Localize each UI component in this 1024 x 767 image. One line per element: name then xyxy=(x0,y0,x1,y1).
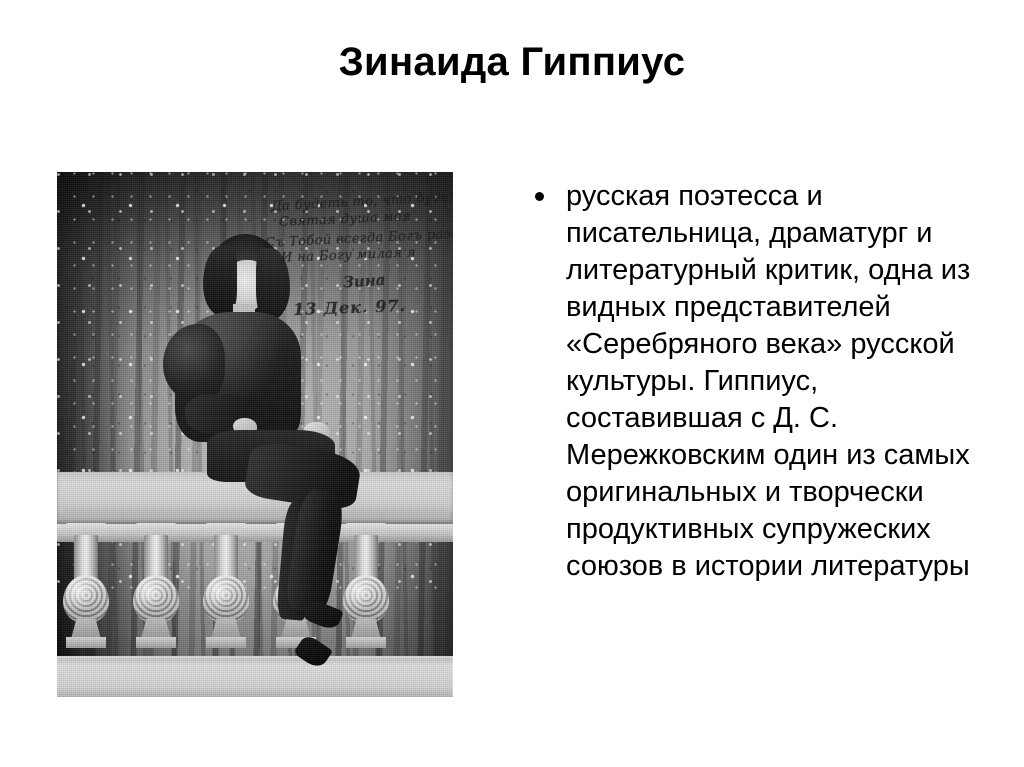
portrait-photograph: Да будеть то, что будеть Святая душа моя… xyxy=(57,172,453,697)
baluster-foot xyxy=(141,619,171,639)
baluster xyxy=(133,523,179,655)
baluster-foot xyxy=(211,619,241,639)
baluster-bulb xyxy=(133,575,179,623)
inscription-date: 13 Дек. 97. xyxy=(293,296,407,319)
baluster-base xyxy=(136,637,176,648)
balustrade-plinth xyxy=(57,656,453,697)
figure-hair-left-side xyxy=(203,246,237,316)
baluster-base xyxy=(66,637,106,648)
list-item: русская поэтесса и писательница, драмату… xyxy=(532,178,984,585)
baluster-bulb xyxy=(63,575,109,623)
figure-puff-sleeve xyxy=(163,324,225,402)
page-title: Зинаида Гиппиус xyxy=(0,38,1024,86)
handwritten-inscription: Да будеть то, что будеть Святая душа моя… xyxy=(265,194,445,324)
baluster-base xyxy=(346,637,386,648)
baluster-foot xyxy=(351,619,381,639)
baluster-foot xyxy=(71,619,101,639)
bullet-point-icon xyxy=(535,192,544,201)
baluster xyxy=(343,523,389,655)
baluster-base xyxy=(206,637,246,648)
baluster xyxy=(203,523,249,655)
inscription-signature: Зина xyxy=(342,271,386,292)
baluster-bulb xyxy=(343,575,389,623)
content-text-block: русская поэтесса и писательница, драмату… xyxy=(532,178,984,585)
balustrade-rail xyxy=(57,524,453,542)
baluster-bulb xyxy=(203,575,249,623)
bullet-item-label: русская поэтесса и писательница, драмату… xyxy=(532,178,984,585)
presentation-slide: Зинаида Гиппиус xyxy=(0,0,1024,767)
baluster xyxy=(63,523,109,655)
